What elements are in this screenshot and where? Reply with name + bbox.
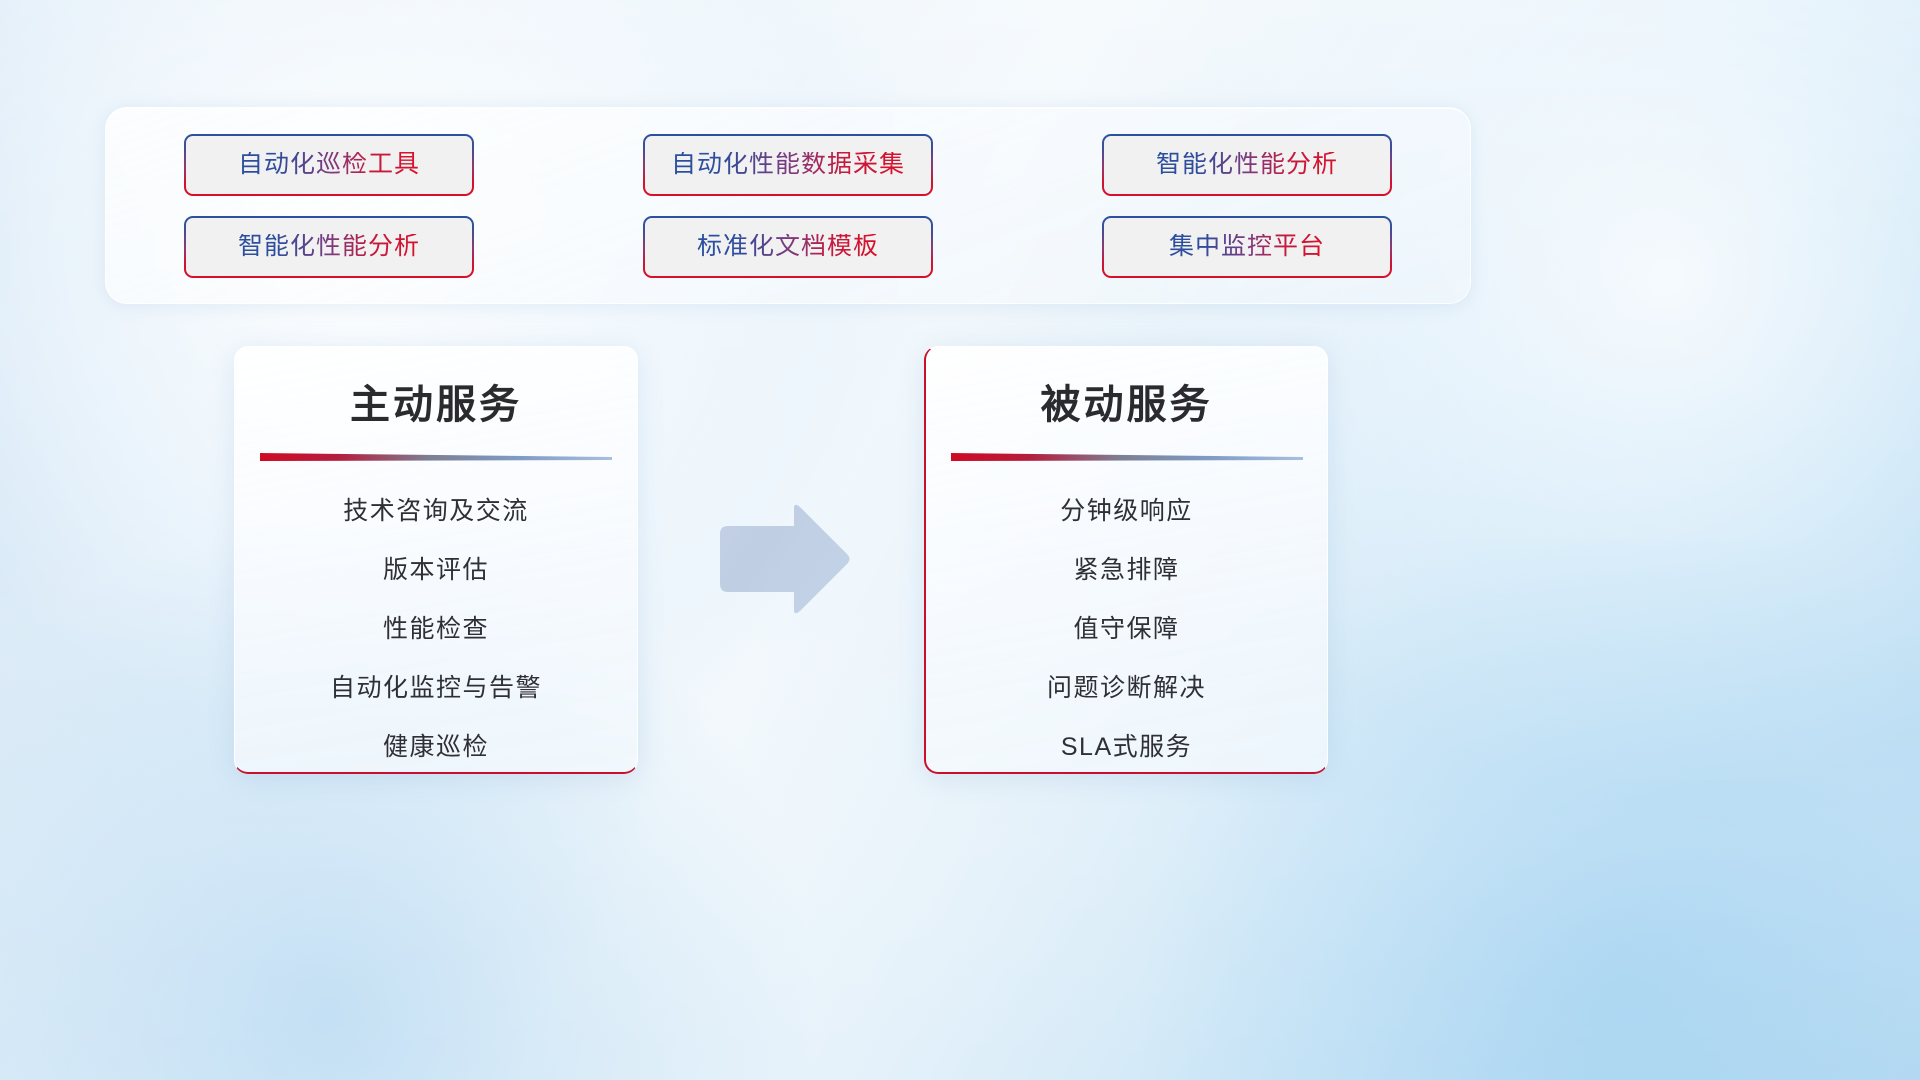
list-item[interactable]: 紧急排障: [946, 541, 1307, 600]
capability-pill-label: 自动化性能数据采集: [671, 152, 905, 177]
list-item[interactable]: 值守保障: [946, 600, 1307, 659]
service-list-proactive: 技术咨询及交流 版本评估 性能检查 自动化监控与告警 健康巡检: [255, 482, 617, 777]
list-item[interactable]: 分钟级响应: [946, 482, 1307, 541]
capability-pill-centralized-monitoring-platform[interactable]: 集中监控平台: [1102, 216, 1392, 278]
capability-pill-standardized-doc-template[interactable]: 标准化文档模板: [643, 216, 933, 278]
list-item[interactable]: 自动化监控与告警: [255, 659, 617, 718]
list-item[interactable]: 版本评估: [255, 541, 617, 600]
service-list-reactive: 分钟级响应 紧急排障 值守保障 问题诊断解决 SLA式服务: [946, 482, 1307, 777]
capability-pill-automated-inspection-tool[interactable]: 自动化巡检工具: [184, 134, 474, 196]
list-item[interactable]: SLA式服务: [946, 718, 1307, 777]
arrow-right-icon: [716, 504, 852, 614]
capability-pill-intelligent-performance-analysis[interactable]: 智能化性能分析: [1102, 134, 1392, 196]
capability-pill-label: 标准化文档模板: [697, 234, 879, 259]
card-divider: [951, 449, 1303, 460]
capability-panel: 自动化巡检工具 自动化性能数据采集 智能化性能分析 智能化性能分析 标准化文档模…: [105, 107, 1471, 304]
capability-pill-intelligent-performance-analysis-2[interactable]: 智能化性能分析: [184, 216, 474, 278]
list-item[interactable]: 性能检查: [255, 600, 617, 659]
capability-pill-label: 智能化性能分析: [238, 234, 420, 259]
capability-row-2: 智能化性能分析 标准化文档模板 集中监控平台: [184, 216, 1392, 278]
service-card-proactive: 主动服务 技术咨询及交流 版本评估 性能检查 自动化监控与告警 健康巡检: [234, 346, 638, 774]
capability-pill-label: 集中监控平台: [1169, 234, 1325, 259]
card-divider: [260, 449, 612, 460]
list-item[interactable]: 问题诊断解决: [946, 659, 1307, 718]
capability-pill-automated-performance-data-collection[interactable]: 自动化性能数据采集: [643, 134, 933, 196]
card-title: 被动服务: [1041, 381, 1213, 429]
capability-pill-label: 智能化性能分析: [1156, 152, 1338, 177]
card-title: 主动服务: [350, 381, 522, 429]
capability-pill-label: 自动化巡检工具: [238, 152, 420, 177]
list-item[interactable]: 技术咨询及交流: [255, 482, 617, 541]
list-item[interactable]: 健康巡检: [255, 718, 617, 777]
service-card-reactive: 被动服务 分钟级响应 紧急排障 值守保障 问题诊断解决 SLA式服务: [924, 346, 1328, 774]
capability-row-1: 自动化巡检工具 自动化性能数据采集 智能化性能分析: [184, 134, 1392, 196]
